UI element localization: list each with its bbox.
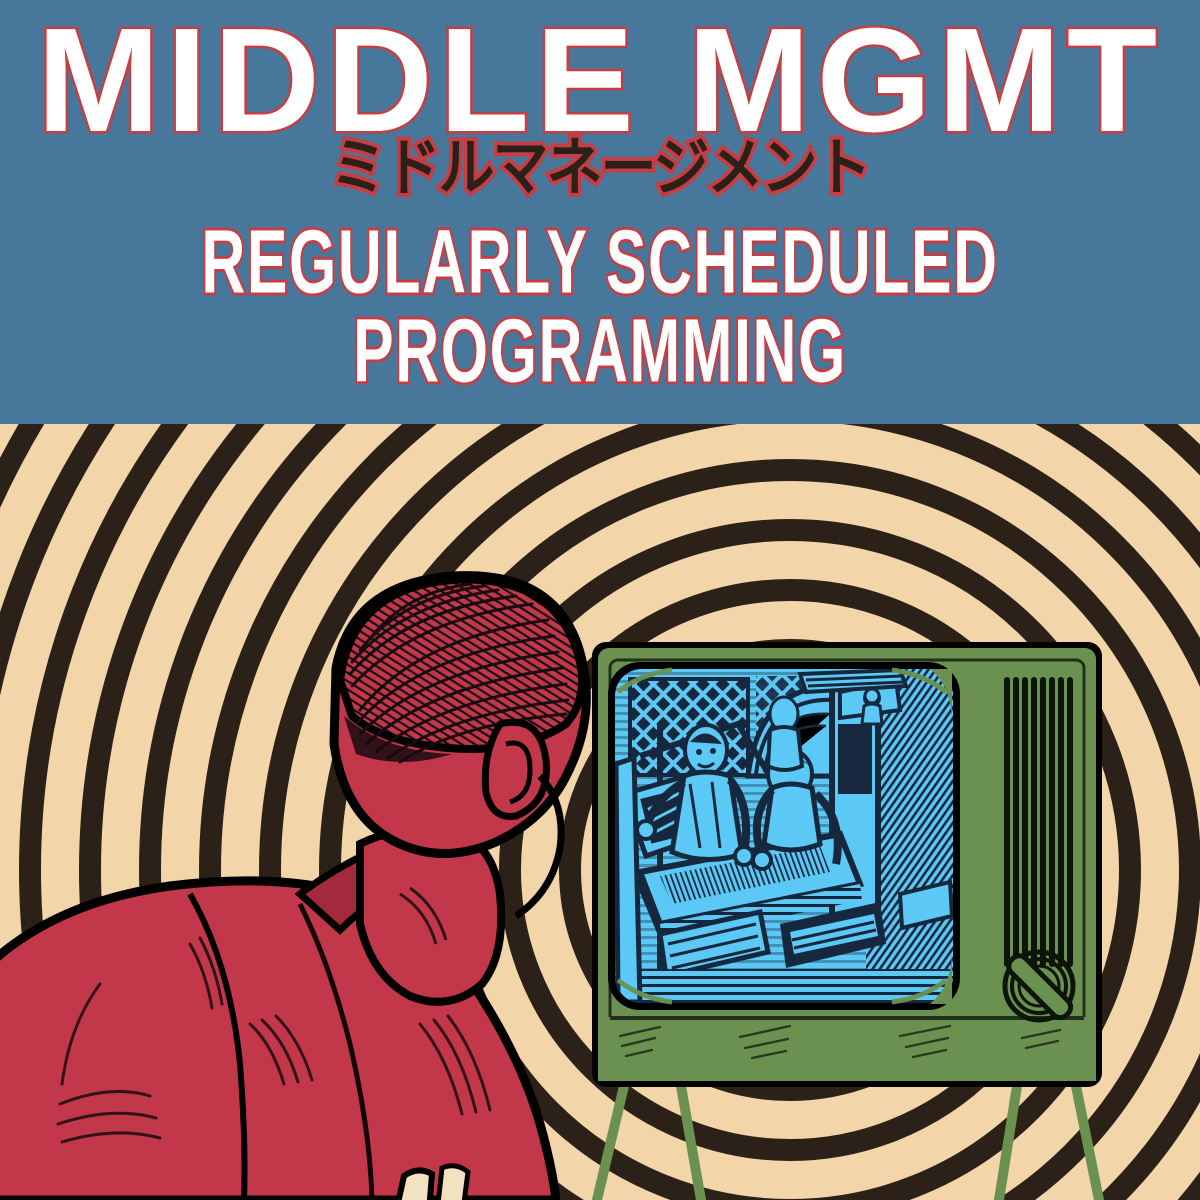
illustration-svg (0, 424, 1200, 1200)
poster-root: MIDDLE MGMT ミドルマネージメント REGULARLY SCHEDUL… (0, 0, 1200, 1200)
illustration-area (0, 424, 1200, 1200)
woodcut-figure-background (768, 697, 802, 770)
screen-woodcut-image (615, 669, 954, 1009)
vintage-television-set (592, 642, 1102, 1087)
subtitle-line-2: PROGRAMMING (120, 305, 1080, 399)
woodcut-figure-doorway (862, 689, 882, 724)
japanese-subtitle: ミドルマネージメント (0, 135, 1200, 202)
title-band: MIDDLE MGMT ミドルマネージメント REGULARLY SCHEDUL… (0, 0, 1200, 424)
subtitle-line-1: REGULARLY SCHEDULED (120, 216, 1080, 310)
